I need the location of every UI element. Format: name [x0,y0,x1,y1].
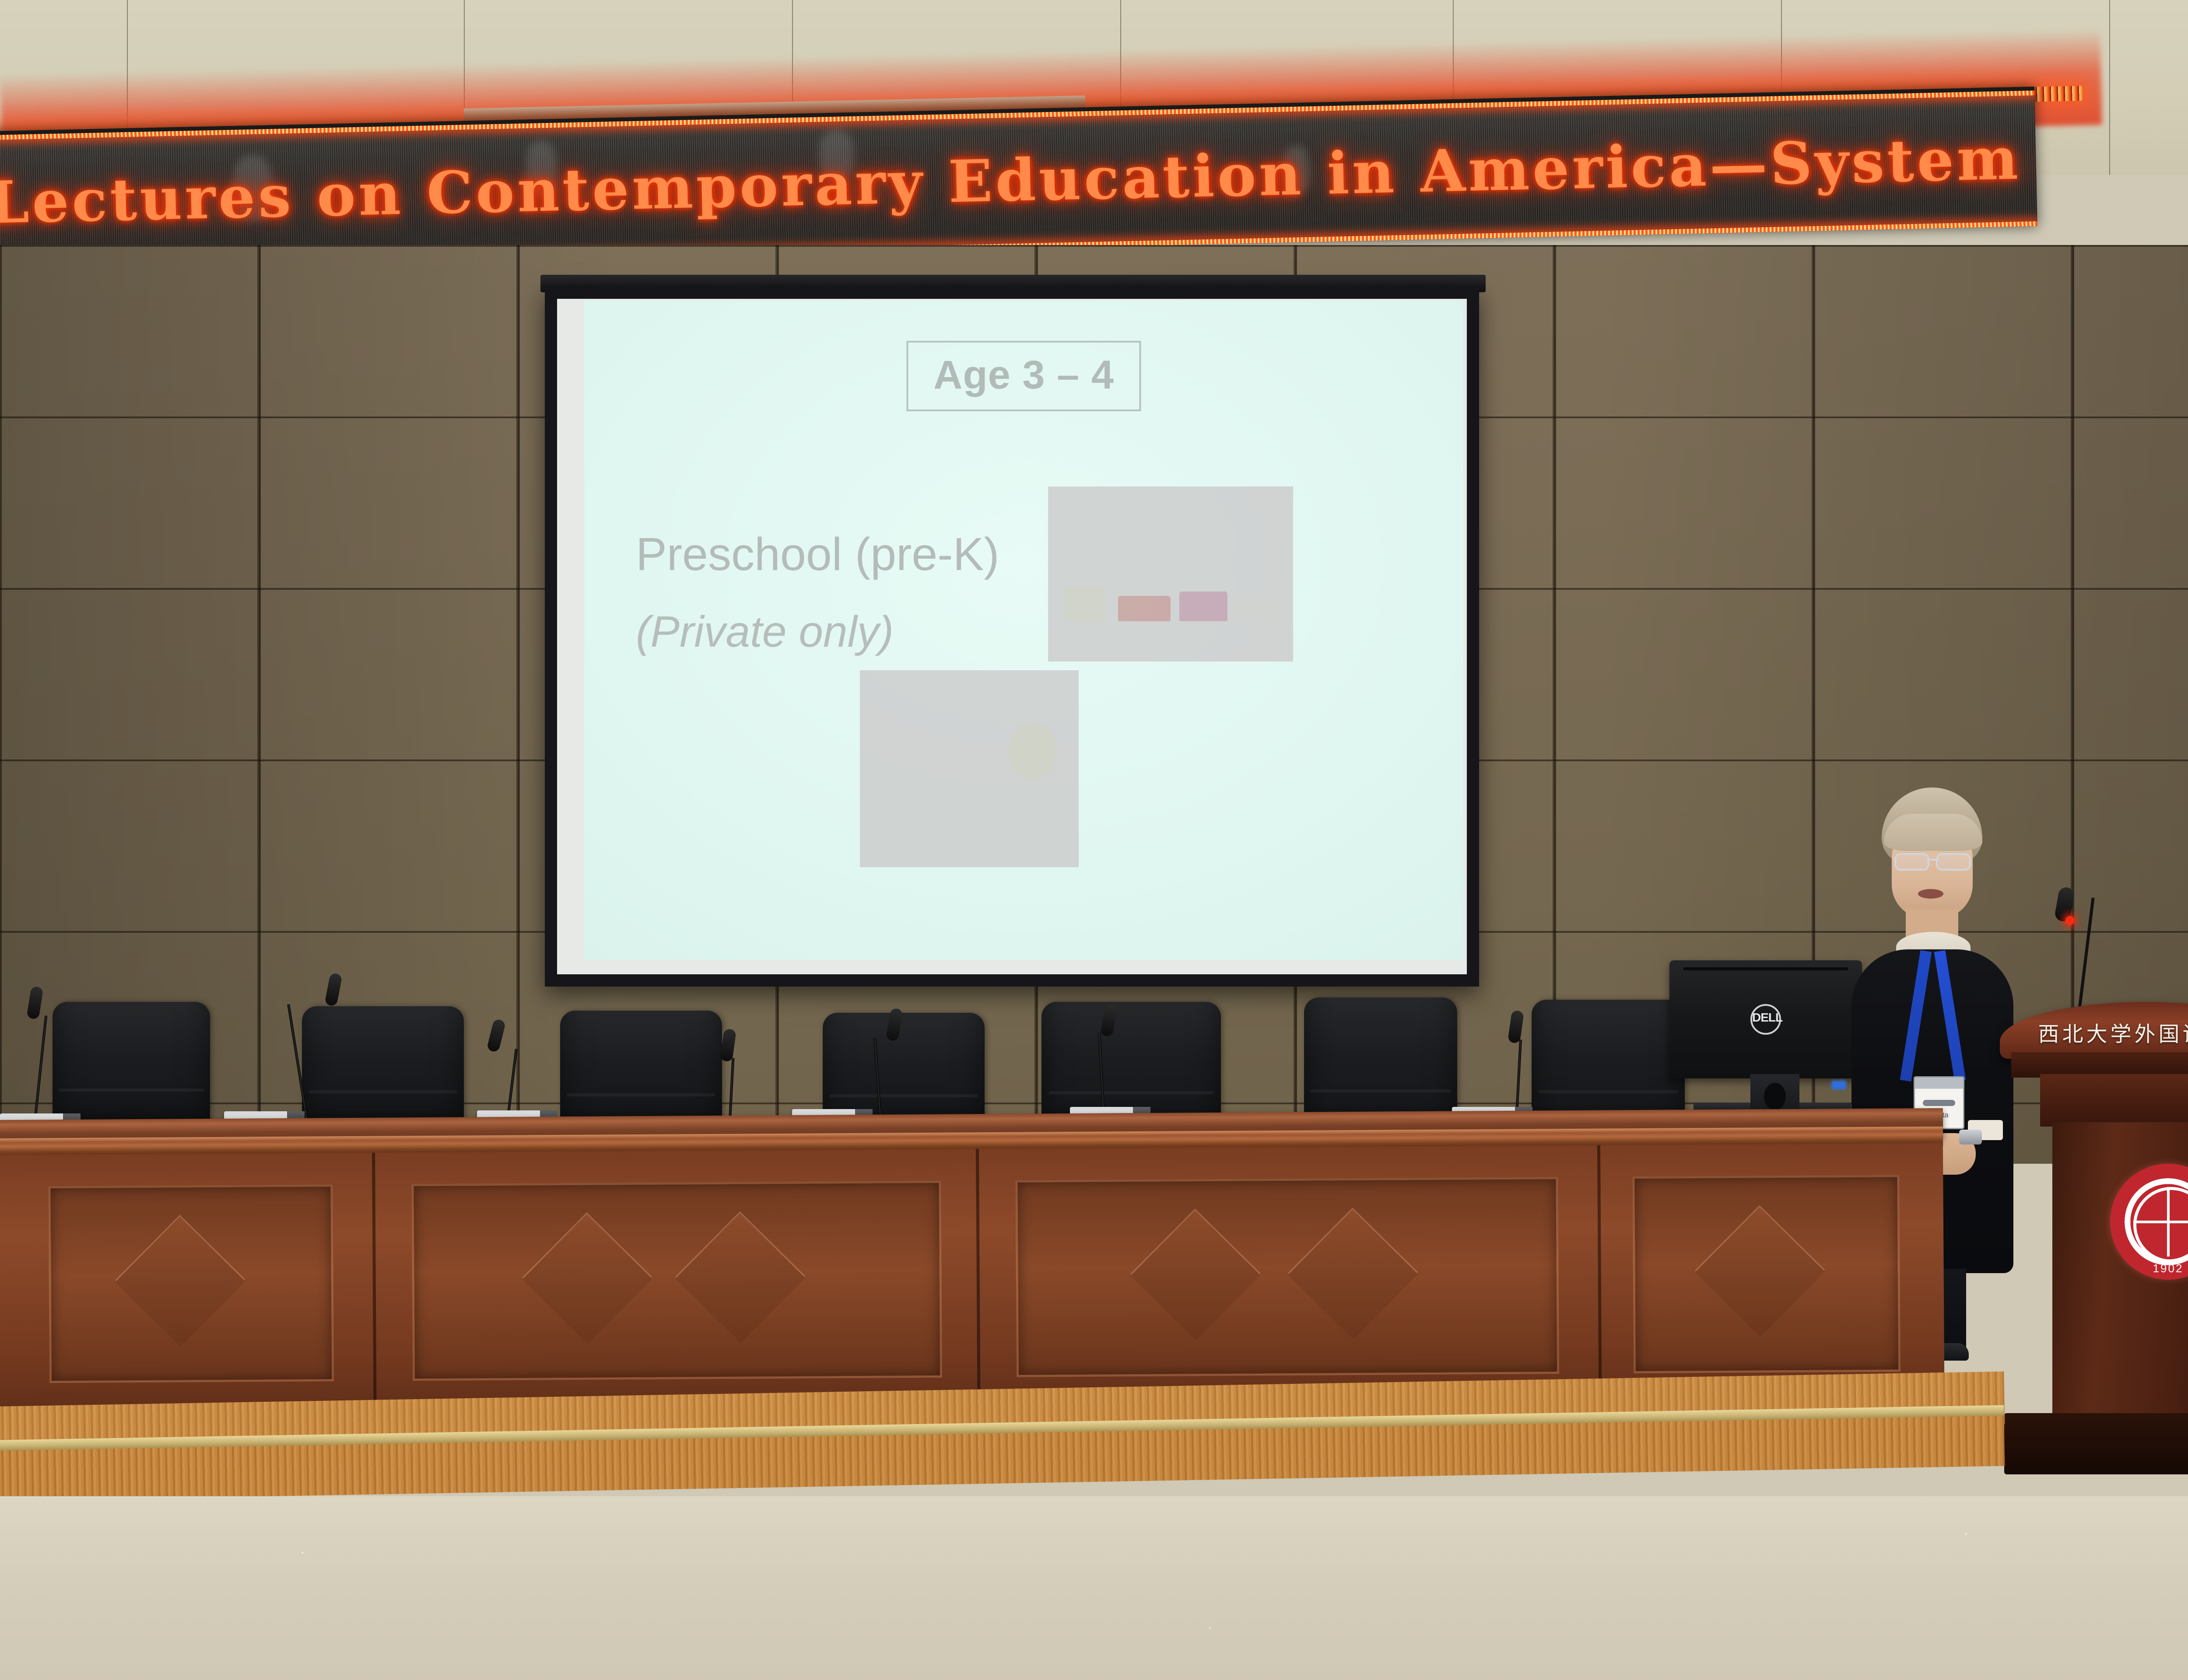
dell-logo: DELL [1750,1004,1781,1035]
slide-line-preschool: Preschool (pre-K) [636,528,999,581]
seal-year: 1902 [2110,1262,2188,1275]
slide-photo-teacher-children [860,670,1079,867]
presentation-slide: Age 3 – 4 Preschool (pre-K) (Private onl… [584,301,1463,960]
lecture-hall-photo: Lectures on Contemporary Education in Am… [0,0,2188,1680]
banner-text: Lectures on Contemporary Education in Am… [0,124,2037,237]
slide-line-private-only: (Private only) [636,607,894,657]
slide-age-label: Age 3 – 4 [933,353,1114,397]
table-panel [48,1184,334,1383]
floor [0,1496,2188,1680]
table-panel [1632,1175,1900,1373]
podium-base [2004,1413,2188,1474]
podium-microphone-status-led [2065,916,2074,925]
badge-logo [1923,1100,1955,1106]
projection-screen: Age 3 – 4 Preschool (pre-K) (Private onl… [545,287,1479,987]
podium-neck [2040,1074,2188,1127]
presenter-mouth [1918,889,1943,899]
screen-surface: Age 3 – 4 Preschool (pre-K) (Private onl… [557,299,1467,974]
presenter-hair-front [1884,814,1982,851]
slide-photo-children-crafts [1048,486,1293,661]
presenter-glasses [1894,853,1971,867]
presenter-watch [1959,1130,1982,1144]
dell-monitor[interactable]: DELL [1669,960,1862,1078]
podium-chinese-sign: 西北大学外国语学院 [2000,1017,2188,1047]
monitor-vent [1683,967,1848,970]
slide-age-box: Age 3 – 4 [906,341,1141,411]
table-panel [1015,1177,1559,1377]
table-panel [411,1181,942,1381]
